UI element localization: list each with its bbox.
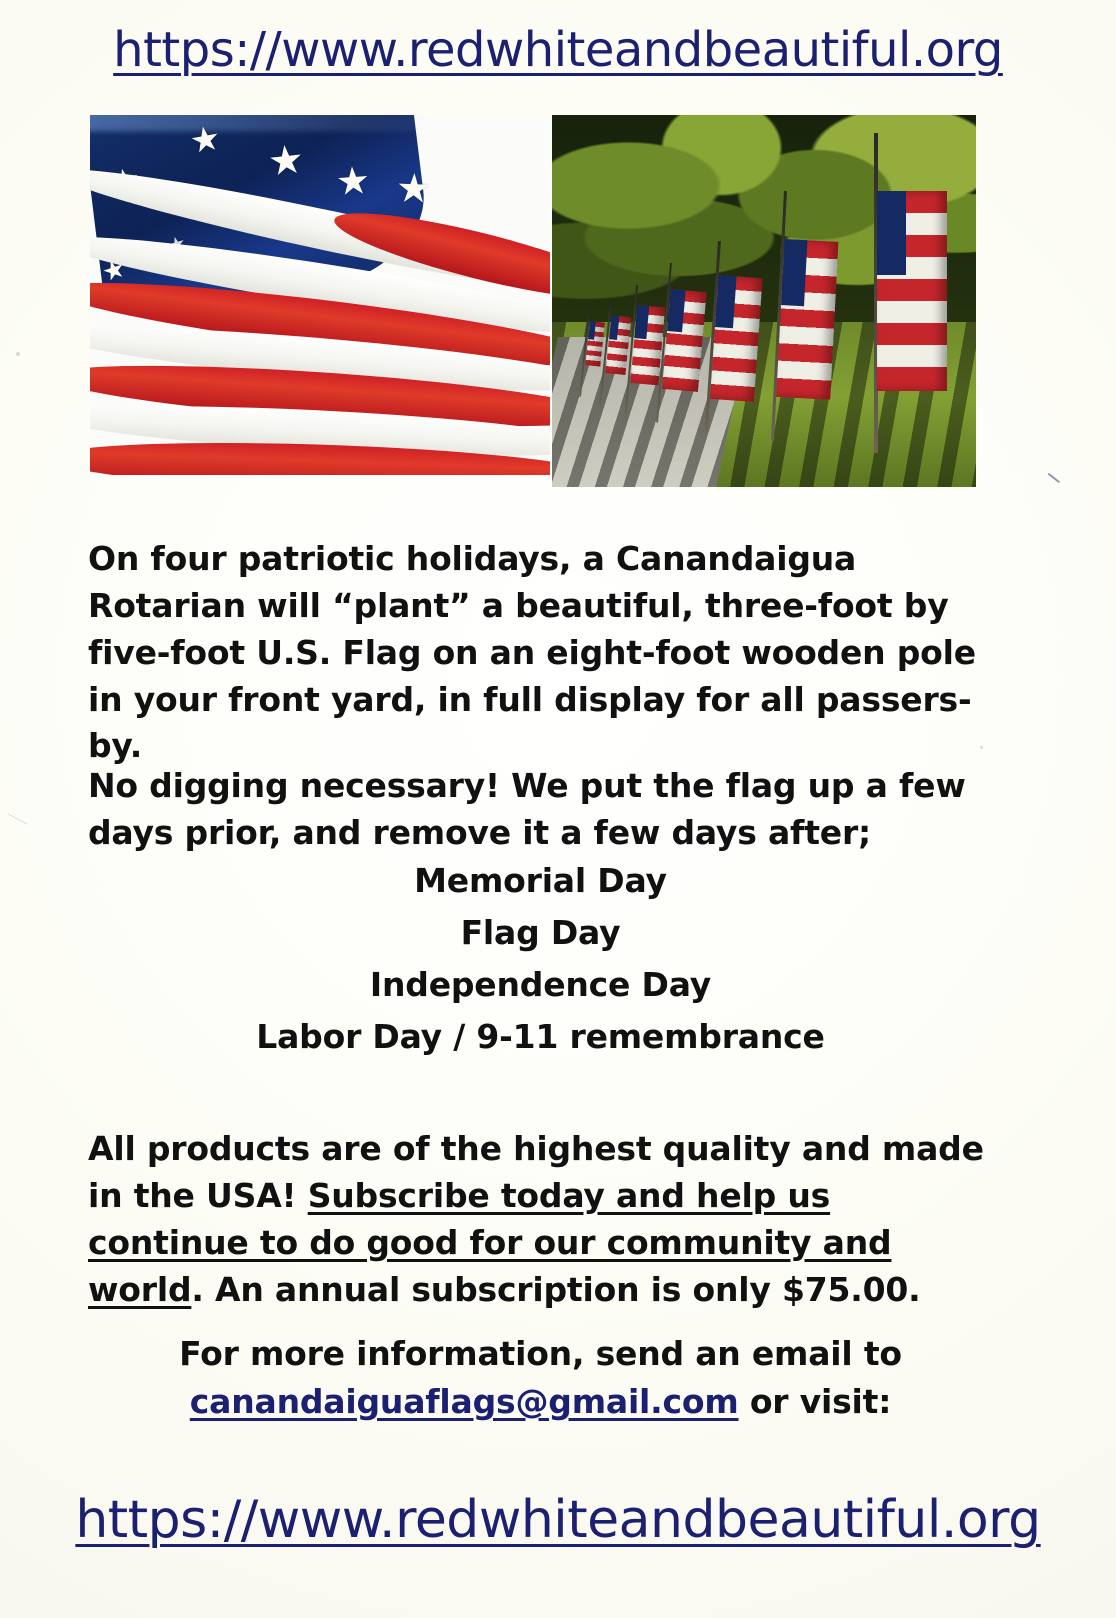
flag-cloth — [710, 275, 763, 402]
visit-suffix-text: or visit: — [739, 1382, 892, 1421]
scan-artifact — [16, 352, 20, 356]
flag-row-photo — [552, 115, 976, 487]
holiday-list: Memorial Day Flag Day Independence Day L… — [88, 855, 993, 1064]
star-icon: ★ — [266, 139, 306, 183]
contact-block: For more information, send an email to c… — [88, 1330, 993, 1426]
scan-artifact — [2, 814, 28, 836]
star-icon: ★ — [187, 121, 223, 160]
quality-tail-text: . An annual subscription is only $75.00. — [191, 1270, 920, 1309]
holiday-item: Independence Day — [88, 959, 993, 1011]
quality-subscribe-paragraph: All products are of the highest quality … — [88, 1126, 993, 1313]
star-icon: ★ — [395, 168, 432, 209]
contact-intro-text: For more information, send an email to — [179, 1334, 902, 1373]
email-link[interactable]: canandaiguaflags@gmail.com — [190, 1382, 739, 1421]
header-website-url[interactable]: https://www.redwhiteandbeautiful.org — [0, 22, 1116, 78]
scan-artifact — [1042, 473, 1060, 490]
no-digging-paragraph: No digging necessary! We put the flag up… — [88, 763, 993, 857]
flag-cloth — [877, 191, 947, 391]
flag-cloth — [776, 239, 838, 400]
holiday-item: Flag Day — [88, 907, 993, 959]
holiday-item: Memorial Day — [88, 855, 993, 907]
intro-paragraph: On four patriotic holidays, a Canandaigu… — [88, 536, 993, 770]
flyer-page: https://www.redwhiteandbeautiful.org ★ ★… — [0, 0, 1116, 1618]
star-icon: ★ — [335, 162, 372, 202]
photo-strip: ★ ★ ★ ★ ★ ★ ★ ★ ★ — [90, 115, 976, 487]
holiday-item: Labor Day / 9-11 remembrance — [88, 1011, 993, 1063]
footer-website-url[interactable]: https://www.redwhiteandbeautiful.org — [0, 1490, 1116, 1550]
flag-closeup-photo: ★ ★ ★ ★ ★ ★ ★ ★ ★ — [90, 115, 550, 475]
